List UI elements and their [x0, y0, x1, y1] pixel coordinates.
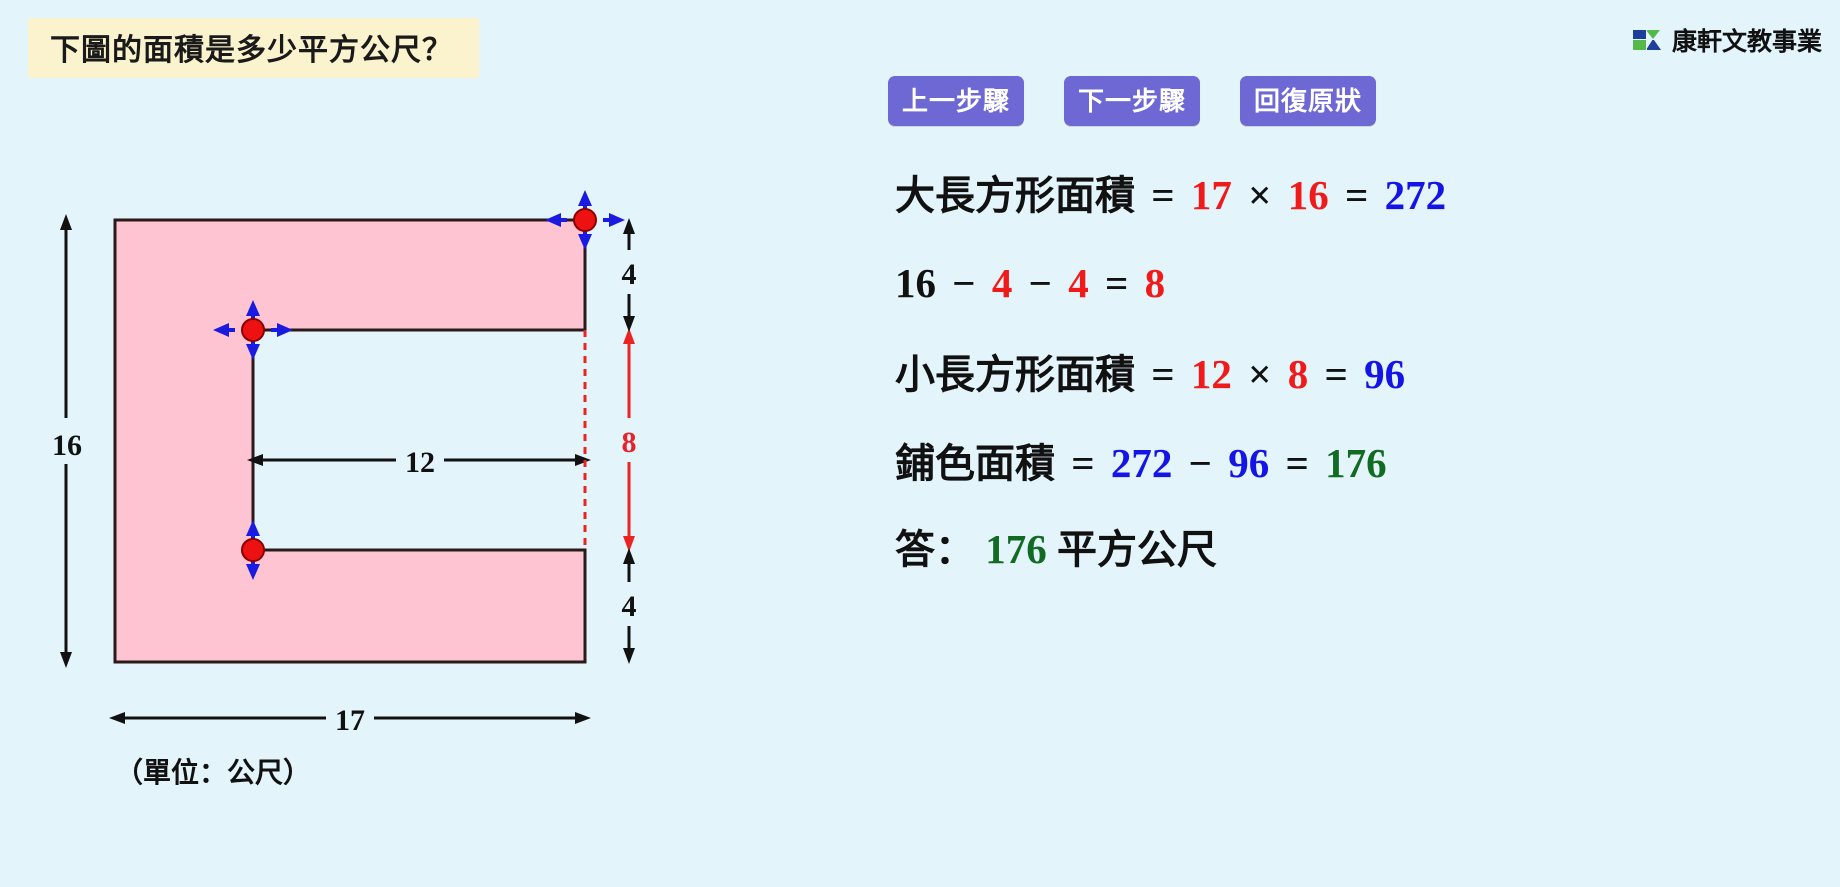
- line1-label: 大長方形面積: [895, 174, 1135, 218]
- line3-result: 96: [1364, 351, 1405, 397]
- line3-operand-a: 12: [1191, 351, 1232, 397]
- line4-minus: −: [1183, 440, 1218, 486]
- arrow-head-right-icon: [575, 454, 591, 466]
- solution-line-3: 小長方形面積 = 12 × 8 = 96: [895, 354, 1795, 395]
- dim-label-bottom-band: 4: [622, 590, 637, 623]
- dimension-top-band-4: 4: [612, 218, 650, 332]
- dim-label-left-height: 16: [52, 429, 82, 462]
- answer-unit: 平方公尺: [1057, 528, 1217, 572]
- line1-equals: =: [1145, 172, 1180, 218]
- line2-minus-2: −: [1023, 260, 1058, 306]
- line4-label: 鋪色面積: [895, 442, 1055, 486]
- arrow-head-right-icon: [575, 712, 591, 724]
- drag-handle-dot[interactable]: [242, 539, 264, 561]
- dimension-notch-12: 12: [247, 438, 591, 482]
- line1-operand-a: 17: [1191, 172, 1232, 218]
- drag-handle-dot[interactable]: [242, 319, 264, 341]
- arrow-head-up-icon: [623, 548, 635, 564]
- line2-operand-c: 4: [1068, 260, 1089, 306]
- dim-label-top-band: 4: [622, 258, 637, 291]
- line1-operand-b: 16: [1288, 172, 1329, 218]
- shaded-region[interactable]: [115, 220, 585, 662]
- solution-answer: 答： 176 平方公尺: [895, 529, 1795, 570]
- line2-operand-a: 16: [895, 260, 936, 306]
- arrow-up-icon: [578, 190, 592, 206]
- dimension-notch-height-8: 8: [585, 328, 650, 552]
- arrow-head-down-icon: [623, 648, 635, 664]
- dimension-left-16: 16: [45, 214, 89, 668]
- line1-times: ×: [1242, 172, 1277, 218]
- next-step-button[interactable]: 下一步驟: [1064, 76, 1200, 126]
- line1-equals-2: =: [1339, 172, 1374, 218]
- arrow-head-up-icon: [60, 214, 72, 230]
- arrow-head-down-icon: [60, 652, 72, 668]
- drag-handle-dot[interactable]: [574, 209, 596, 231]
- reset-button[interactable]: 回復原狀: [1240, 76, 1376, 126]
- line3-equals: =: [1145, 351, 1180, 397]
- line2-operand-b: 4: [992, 260, 1013, 306]
- step-toolbar: 上一步驟 下一步驟 回復原狀: [888, 76, 1376, 126]
- answer-value: 176: [985, 526, 1047, 572]
- solution-line-4: 鋪色面積 = 272 − 96 = 176: [895, 443, 1795, 484]
- logo-text: 康軒文教事業: [1672, 22, 1822, 58]
- line3-operand-b: 8: [1288, 351, 1309, 397]
- line3-times: ×: [1242, 351, 1277, 397]
- dim-label-notch-height: 8: [622, 426, 637, 459]
- brand-logo: 康軒文教事業: [1633, 22, 1822, 58]
- dim-label-bottom-width: 17: [335, 704, 365, 737]
- geometry-figure[interactable]: 16 17 12: [0, 150, 740, 870]
- line1-result: 272: [1385, 172, 1447, 218]
- dim-label-notch-width: 12: [405, 446, 435, 479]
- line3-equals-2: =: [1319, 351, 1354, 397]
- solution-steps: 大長方形面積 = 17 × 16 = 272 16 − 4 − 4 = 8 小長…: [895, 175, 1795, 570]
- dimension-bottom-17: 17: [109, 696, 591, 740]
- line4-equals-2: =: [1280, 440, 1315, 486]
- dimension-bottom-band-4: 4: [612, 548, 650, 664]
- answer-label: 答：: [895, 528, 975, 572]
- logo-mark-icon: [1633, 25, 1663, 55]
- line4-operand-a: 272: [1111, 440, 1173, 486]
- prev-step-button[interactable]: 上一步驟: [888, 76, 1024, 126]
- solution-line-2: 16 − 4 − 4 = 8: [895, 263, 1795, 304]
- arrow-right-icon: [609, 213, 625, 227]
- line2-minus-1: −: [946, 260, 981, 306]
- arrow-head-left-icon: [109, 712, 125, 724]
- arrow-head-down-icon: [623, 316, 635, 332]
- line4-result: 176: [1325, 440, 1387, 486]
- figure-svg[interactable]: 16 17 12: [0, 150, 740, 870]
- slide-canvas: 下圖的面積是多少平方公尺？ 康軒文教事業 上一步驟 下一步驟 回復原狀: [0, 0, 1840, 887]
- line2-result: 8: [1145, 260, 1166, 306]
- solution-line-1: 大長方形面積 = 17 × 16 = 272: [895, 175, 1795, 216]
- page-title: 下圖的面積是多少平方公尺？: [28, 18, 479, 78]
- line4-equals: =: [1065, 440, 1100, 486]
- arrow-head-up-icon: [623, 218, 635, 234]
- line4-operand-b: 96: [1228, 440, 1269, 486]
- unit-note: （單位：公尺）: [115, 756, 311, 788]
- line3-label: 小長方形面積: [895, 353, 1135, 397]
- line2-equals: =: [1099, 260, 1134, 306]
